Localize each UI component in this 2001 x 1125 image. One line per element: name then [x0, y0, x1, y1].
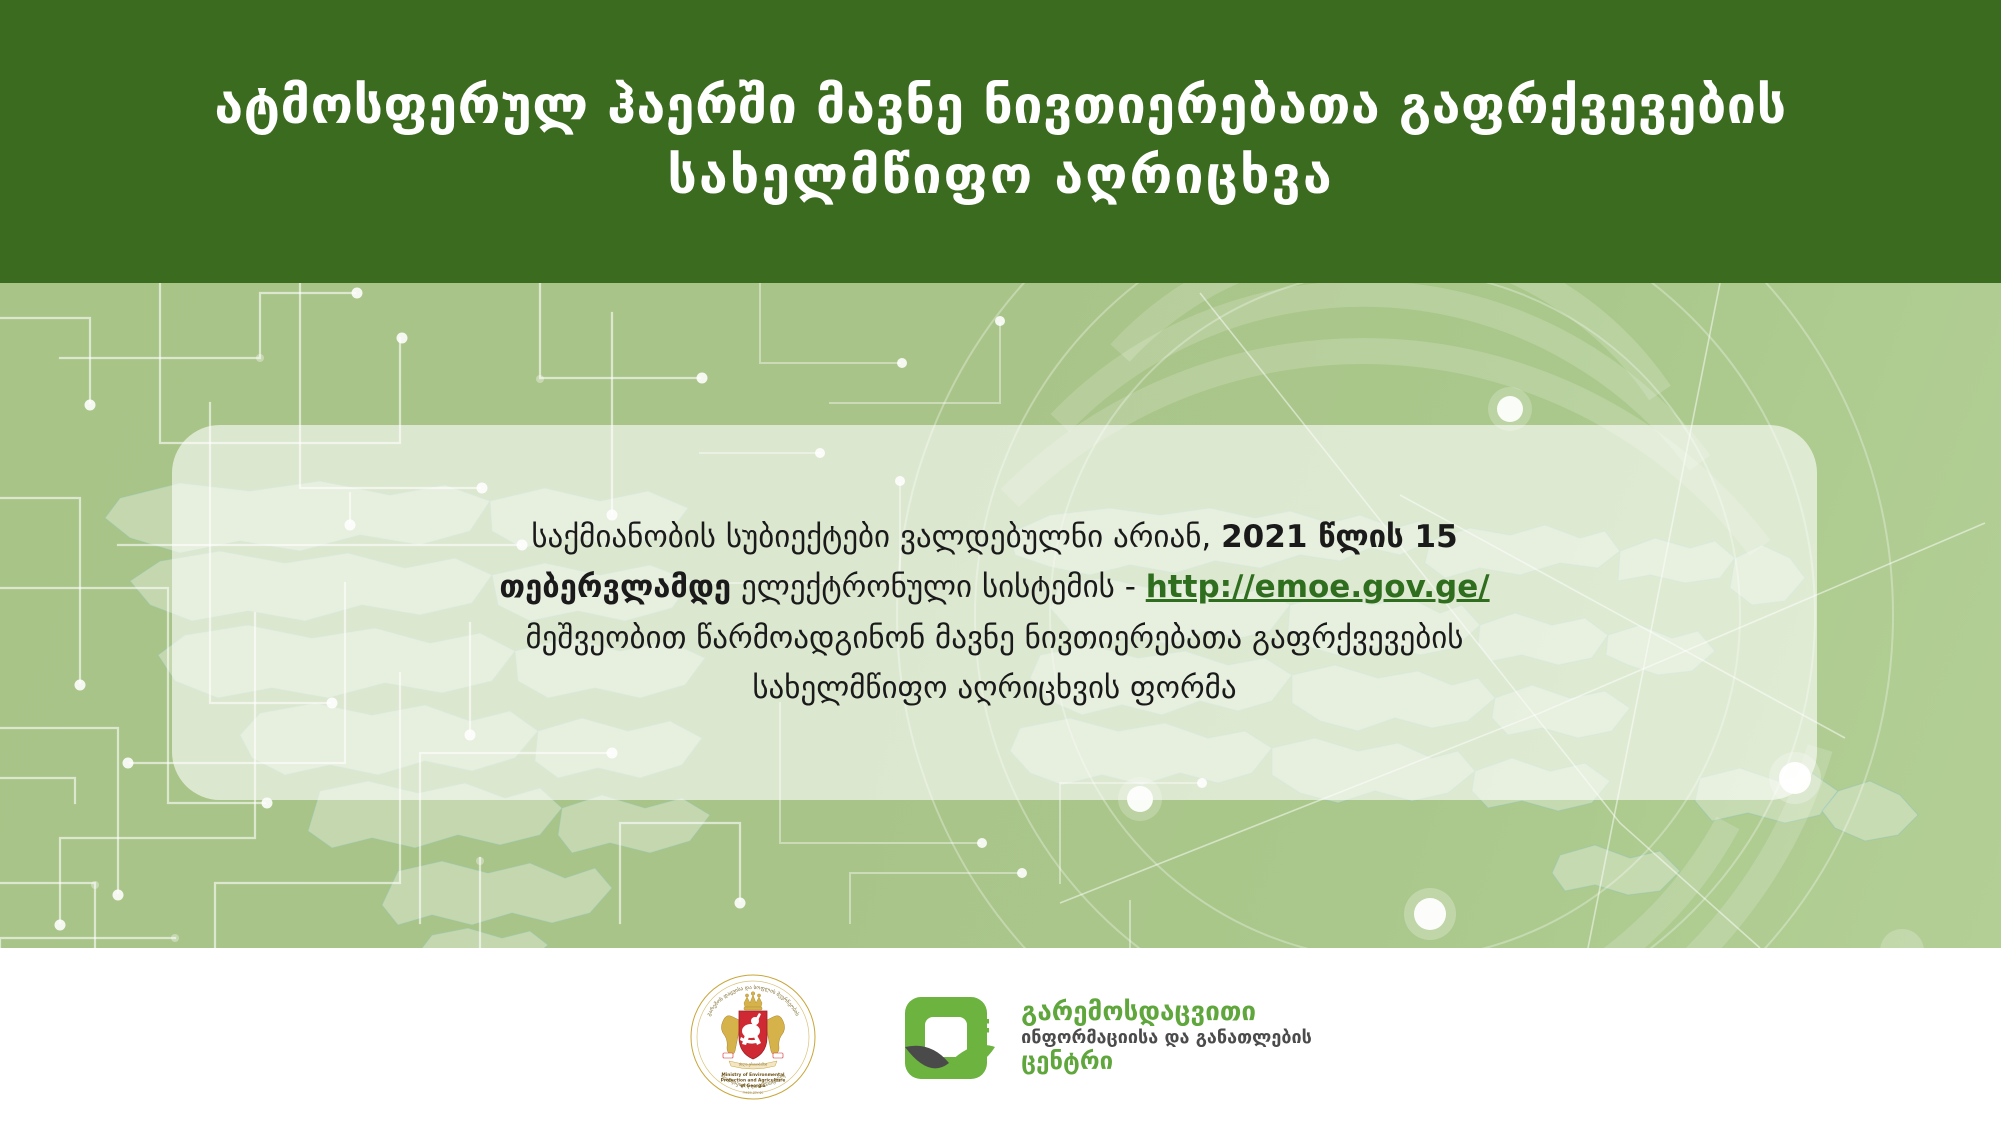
seal-en-line3: of Georgia — [741, 1083, 766, 1089]
seal-url: mepa.gov.ge — [743, 1090, 764, 1094]
seal-en-line2: Protection and Agriculture — [721, 1077, 786, 1083]
body-band: საქმიანობის სუბიექტები ვალდებულნი არიან,… — [0, 283, 2001, 948]
eiec-label-line3: ცენტრი — [1021, 1048, 1312, 1075]
info-card: საქმიანობის სუბიექტები ვალდებულნი არიან,… — [172, 425, 1817, 800]
eiec-label-line2: ინფორმაციისა და განათლების — [1021, 1028, 1312, 1048]
page-title-line-1: ატმოსფერულ ჰაერში მავნე ნივთიერებათა გაფ… — [214, 76, 1786, 137]
emoe-portal-link[interactable]: http://emoe.gov.ge/ — [1146, 569, 1490, 605]
notice-line2-part1: ელექტრონული სისტემის - — [731, 569, 1146, 605]
info-card-text: საქმიანობის სუბიექტები ვალდებულნი არიან,… — [172, 512, 1817, 713]
georgia-ministry-seal-icon: გარემოს დაცვისა და სოფლის მეურნეობის საქ… — [689, 973, 817, 1101]
footer-band: გარემოს დაცვისა და სოფლის მეურნეობის საქ… — [0, 948, 2001, 1125]
notice-deadline-month: თებერვლამდე — [499, 569, 731, 605]
notice-line4: სახელმწიფო აღრიცხვის ფორმა — [752, 670, 1236, 706]
header-band: ატმოსფერულ ჰაერში მავნე ნივთიერებათა გაფ… — [0, 0, 2001, 283]
page-title-line-2: სახელმწიფო აღრიცხვა — [667, 146, 1333, 207]
notice-deadline-year: 2021 წლის 15 — [1221, 519, 1458, 555]
eiec-leaf-book-icon — [899, 983, 1007, 1091]
notice-line1-part1: საქმიანობის სუბიექტები ვალდებულნი არიან, — [531, 519, 1221, 555]
notice-line3: მეშვეობით წარმოადგინონ მავნე ნივთიერებათ… — [525, 620, 1463, 656]
eiec-label-line1: გარემოსდაცვითი — [1021, 998, 1312, 1027]
svg-text:ძალა ერთობაშია: ძალა ერთობაშია — [739, 1062, 768, 1066]
eiec-logo: გარემოსდაცვითი ინფორმაციისა და განათლები… — [899, 983, 1312, 1091]
public-notice-banner: ატმოსფერულ ჰაერში მავნე ნივთიერებათა გაფ… — [0, 0, 2001, 1125]
seal-en-line1: Ministry of Environmental — [722, 1072, 785, 1078]
